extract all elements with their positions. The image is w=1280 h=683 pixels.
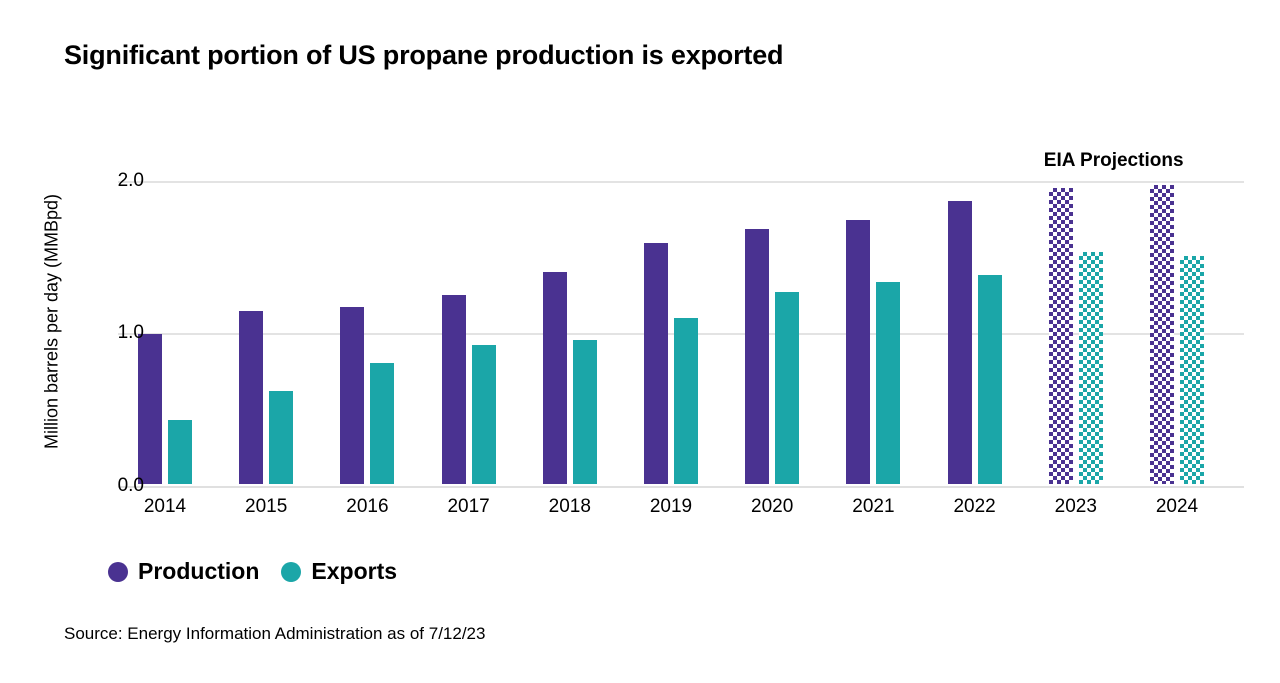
bar-production-2019[interactable] [644,243,668,484]
bar-exports-2022[interactable] [978,275,1002,484]
bar-production-2023[interactable] [1049,188,1073,484]
legend-marker-exports-icon [281,562,301,582]
bar-production-2017[interactable] [442,295,466,484]
bar-exports-2018[interactable] [573,340,597,484]
bar-exports-2019[interactable] [674,318,698,484]
bar-production-2016[interactable] [340,307,364,484]
x-tick-label-2024: 2024 [1117,496,1237,518]
legend-label-exports: Exports [311,558,397,585]
bar-production-2021[interactable] [846,220,870,484]
bar-production-2022[interactable] [948,201,972,484]
bar-production-2014[interactable] [138,334,162,484]
bar-production-2018[interactable] [543,272,567,484]
chart-container: Significant portion of US propane produc… [0,0,1280,683]
source-note: Source: Energy Information Administratio… [64,624,485,644]
bar-production-2015[interactable] [239,311,263,484]
legend-item-exports[interactable]: Exports [281,558,397,585]
legend-item-production[interactable]: Production [108,558,259,585]
y-tick-label: 0.0 [44,475,144,497]
bar-production-2024[interactable] [1150,185,1174,484]
bar-exports-2015[interactable] [269,391,293,484]
y-tick-label: 1.0 [44,322,144,344]
chart-legend: Production Exports [108,558,397,585]
chart-title: Significant portion of US propane produc… [64,40,783,71]
bar-exports-2021[interactable] [876,282,900,484]
legend-marker-production-icon [108,562,128,582]
bar-exports-2014[interactable] [168,420,192,484]
gridline-0.0 [118,486,1244,488]
legend-label-production: Production [138,558,259,585]
plot-area [118,150,1244,486]
bar-production-2020[interactable] [745,229,769,484]
bar-exports-2016[interactable] [370,363,394,484]
gridline-2.0 [118,181,1244,183]
y-tick-label: 2.0 [44,170,144,192]
bar-exports-2020[interactable] [775,292,799,484]
bar-exports-2024[interactable] [1180,256,1204,484]
bar-exports-2017[interactable] [472,345,496,484]
bar-exports-2023[interactable] [1079,252,1103,484]
